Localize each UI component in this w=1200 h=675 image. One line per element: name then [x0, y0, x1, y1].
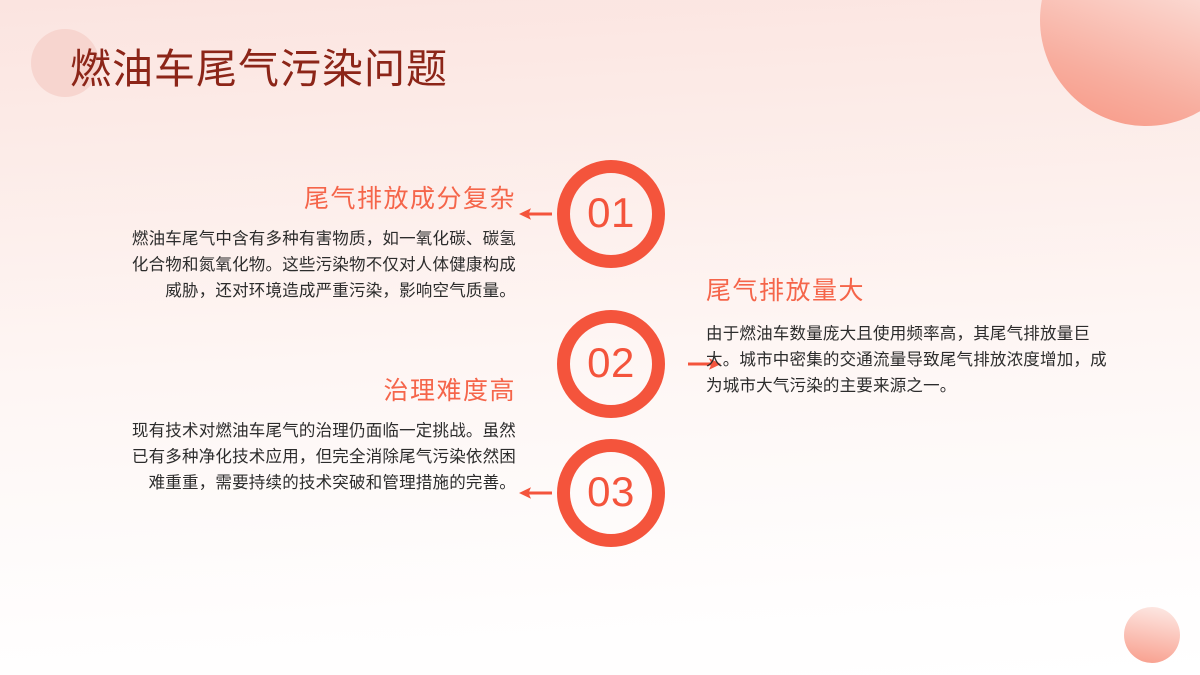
item-heading-02: 尾气排放量大: [706, 275, 1110, 307]
text-block-03: 治理难度高 现有技术对燃油车尾气的治理仍面临一定挑战。虽然已有多种净化技术应用，…: [120, 375, 516, 496]
text-block-01: 尾气排放成分复杂 燃油车尾气中含有多种有害物质，如一氧化碳、碳氢化合物和氮氧化物…: [120, 183, 516, 304]
step-number-01: 01: [587, 192, 635, 234]
arrow-left-icon-03: [519, 485, 553, 501]
item-heading-01: 尾气排放成分复杂: [120, 183, 516, 215]
slide-canvas: 燃油车尾气污染问题 01 尾气排放成分复杂 燃油车尾气中含有多种有害物质，如一氧…: [0, 0, 1200, 675]
step-number-03: 03: [587, 471, 635, 513]
step-number-02: 02: [587, 342, 635, 384]
step-circle-03[interactable]: 03: [557, 439, 665, 547]
step-circle-02[interactable]: 02: [557, 310, 665, 418]
item-heading-03: 治理难度高: [120, 375, 516, 407]
item-body-02: 由于燃油车数量庞大且使用频率高，其尾气排放量巨大。城市中密集的交通流量导致尾气排…: [706, 321, 1110, 399]
item-body-01: 燃油车尾气中含有多种有害物质，如一氧化碳、碳氢化合物和氮氧化物。这些污染物不仅对…: [120, 226, 516, 304]
step-circle-01[interactable]: 01: [557, 160, 665, 268]
decorative-circle-bottom-right: [1124, 607, 1180, 663]
decorative-circle-top-right: [1040, 0, 1200, 126]
page-title: 燃油车尾气污染问题: [70, 44, 448, 94]
item-body-03: 现有技术对燃油车尾气的治理仍面临一定挑战。虽然已有多种净化技术应用，但完全消除尾…: [120, 418, 516, 496]
text-block-02: 尾气排放量大 由于燃油车数量庞大且使用频率高，其尾气排放量巨大。城市中密集的交通…: [706, 275, 1110, 399]
arrow-left-icon-01: [519, 206, 553, 222]
